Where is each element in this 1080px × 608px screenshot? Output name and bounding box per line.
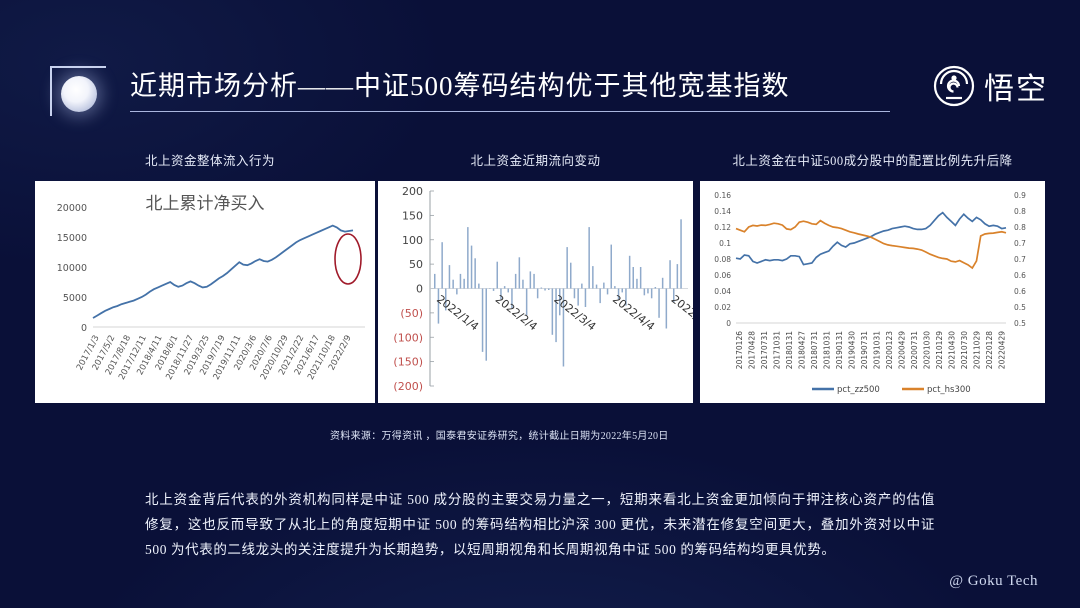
chart-3-right-ytick: 0.5 [1014,303,1026,312]
chart-1-svg: 北上累计净买入 05000100001500020000 2017/1/3201… [35,181,375,403]
chart-3-left-ytick: 0.14 [714,207,731,216]
chart-3-xtick: 20201030 [923,331,932,369]
slide-root: 近期市场分析——中证500筹码结构优于其他宽基指数 悟空 北上资金整体流入行为 … [0,0,1080,608]
chart-2-bar [669,260,671,288]
chart-3-right-ytick: 0.5 [1014,319,1026,328]
chart-2-bar [533,274,535,289]
chart-2-bar [581,284,583,289]
chart-3-left-ytick: 0.06 [714,271,731,280]
chart-3-xtick: 20210430 [948,331,957,369]
chart-1-ytick: 0 [81,323,87,334]
chart-2-bar [449,265,451,288]
orb-shape [61,76,97,112]
chart-3-xtick: 20180131 [785,331,794,369]
chart-2-bar [585,289,587,308]
title-underline [130,111,890,112]
chart-2-bar [493,289,495,291]
watermark: @ Goku Tech [949,573,1038,590]
chart-2-bar [680,219,682,288]
chart-3-xtick: 20211029 [973,331,982,369]
chart-3-right-axis: 0.90.80.80.70.70.60.60.50.5 [1014,191,1026,328]
chart-3-right-ytick: 0.8 [1014,223,1026,232]
chart-3-plot: 00.020.040.060.080.10.120.140.16 0.90.80… [700,181,1045,403]
chart-2-bar [622,289,624,293]
source-note: 资料来源：万得资讯 ，国泰君安证券研究，统计截止日期为2022年5月20日 [330,427,669,442]
chart-3-left-ytick: 0.08 [714,255,731,264]
chart-3-right-ytick: 0.6 [1014,271,1026,280]
chart-2-bar [607,289,609,295]
chart-2-bar [666,289,668,329]
chart-3-svg: 00.020.040.060.080.10.120.140.16 0.90.80… [700,181,1045,403]
chart-2-bar [452,280,454,289]
chart-3-caption: 北上资金在中证500成分股中的配置比例先升后降 [700,150,1045,169]
chart-2-bar [596,285,598,289]
chart-2-ytick: 50 [409,258,423,271]
chart-2-ytick: (100) [393,331,423,344]
chart-2-bar [537,289,539,299]
page-title: 近期市场分析——中证500筹码结构优于其他宽基指数 [130,64,890,103]
chart-3-xtick: 20210129 [935,331,944,369]
chart-2-ytick: 100 [402,234,423,247]
chart-3-left-ytick: 0.12 [714,223,731,232]
chart-3-left-axis: 00.020.040.060.080.10.120.140.16 [714,191,731,328]
chart-1-title: 北上累计净买入 [146,194,265,214]
chart-2-ytick: 200 [402,185,423,198]
chart-2-bar [592,266,594,288]
chart-2-bar [467,227,469,288]
slide-header: 近期市场分析——中证500筹码结构优于其他宽基指数 悟空 [0,28,1080,94]
chart-2-bar [655,287,657,289]
chart-3-xtick: 20171031 [773,331,782,369]
chart-2-bar [541,288,543,289]
chart-2-bar [522,280,524,289]
chart-2-bar [486,289,488,361]
title-wrap: 近期市场分析——中证500筹码结构优于其他宽基指数 [130,64,890,112]
chart-3-xtick: 20180731 [810,331,819,369]
chart-2-bar [574,289,576,299]
chart-3-left-ytick: 0 [726,319,731,328]
chart-2-ytick: 0 [416,283,423,296]
chart-3-right-ytick: 0.8 [1014,207,1026,216]
chart-3-xtick: 20200123 [885,331,894,369]
chart-2-bar [515,274,517,289]
chart-2-bar [497,262,499,289]
goku-circular-logo-icon [933,65,975,107]
chart-2-ytick: 150 [402,209,423,222]
chart-2-bar [508,289,510,293]
chart-2-bar [588,227,590,288]
chart-2-bar [530,271,532,288]
chart-3-right-ytick: 0.7 [1014,255,1026,264]
chart-panel-1: 北上资金整体流入行为 北上累计净买入 05000100001500020000 … [35,150,375,403]
chart-3-xtick: 20220429 [998,331,1007,369]
chart-3-legend-label: pct_hs300 [927,385,971,395]
chart-1-caption: 北上资金整体流入行为 [35,150,375,169]
chart-2-bar [651,289,653,299]
chart-2-bar [611,245,613,289]
chart-2-bar [471,246,473,289]
chart-2-bar [460,274,462,289]
chart-3-legend-label: pct_zz500 [837,385,880,395]
chart-2-bar [629,256,631,289]
chart-2-bar [441,242,443,288]
chart-2-bar [577,289,579,306]
chart-1-ytick: 20000 [57,203,87,214]
chart-3-xtick: 20181031 [823,331,832,369]
chart-3-right-ytick: 0.6 [1014,287,1026,296]
chart-3-xtick: 20200429 [898,331,907,369]
chart-2-bar [566,247,568,288]
chart-2-bar [633,267,635,289]
chart-2-bar [662,278,664,289]
chart-2-bar [489,289,491,290]
chart-2-bar [482,289,484,352]
orb-bracket-decoration-icon [50,66,106,116]
chart-2-svg: 200150100500(50)(100)(150)(200) 2022/1/4… [378,181,693,403]
chart-3-xtick: 20170126 [735,331,744,369]
chart-3-left-ytick: 0.02 [714,303,731,312]
chart-2-bar [644,289,646,296]
chart-2-bar [677,264,679,288]
chart-2-bar [570,263,572,289]
chart-3-left-ytick: 0.16 [714,191,731,200]
chart-2-bar [636,279,638,289]
chart-2-bar [463,279,465,289]
chart-3-right-ytick: 0.9 [1014,191,1026,200]
chart-2-bar [603,283,605,289]
chart-3-xtick: 20220128 [985,331,994,369]
chart-2-bar [519,257,521,288]
brand-name: 悟空 [984,64,1048,108]
chart-3-xtick: 20210730 [960,331,969,369]
chart-2-plot: 200150100500(50)(100)(150)(200) 2022/1/4… [378,181,693,403]
chart-3-xtick: 20200731 [910,331,919,369]
chart-3-xtick: 20190131 [835,331,844,369]
chart-1-ytick: 15000 [57,233,87,244]
chart-2-bar [456,289,458,295]
chart-panel-3: 北上资金在中证500成分股中的配置比例先升后降 00.020.040.060.0… [700,150,1045,403]
chart-3-xtick: 20190731 [860,331,869,369]
chart-3-xtick: 20170731 [760,331,769,369]
chart-2-bar [478,284,480,289]
chart-2-bar [640,267,642,289]
chart-3-left-ytick: 0.04 [714,287,731,296]
chart-3-right-ytick: 0.7 [1014,239,1026,248]
chart-3-xtick: 20170428 [748,331,757,369]
chart-2-bar [552,289,554,335]
chart-1-ytick: 10000 [57,263,87,274]
chart-3-xtick: 20190430 [848,331,857,369]
chart-1-ytick: 5000 [63,293,87,304]
chart-2-bar [658,289,660,318]
chart-2-bar [614,286,616,288]
chart-2-bar [544,289,546,291]
chart-3-xtick: 20191031 [873,331,882,369]
chart-2-bar [504,286,506,288]
chart-2-caption: 北上资金近期流向变动 [378,150,693,169]
chart-2-bar [599,289,601,304]
chart-2-bar [474,258,476,288]
body-paragraph: 北上资金背后代表的外资机构同样是中证 500 成分股的主要交易力量之一，短期来看… [145,487,935,562]
chart-2-bar [548,289,550,291]
chart-2-ytick: (50) [400,307,423,320]
chart-3-left-ytick: 0.1 [719,239,731,248]
chart-2-bar [434,274,436,289]
chart-1-plot: 北上累计净买入 05000100001500020000 2017/1/3201… [35,181,375,403]
chart-panel-2: 北上资金近期流向变动 200150100500(50)(100)(150)(20… [378,150,693,403]
chart-2-bar [647,289,649,294]
chart-2-ytick: (200) [393,380,423,393]
chart-3-xtick: 20180427 [798,331,807,369]
chart-2-ytick: (150) [393,356,423,369]
brand-logo: 悟空 [933,64,1048,108]
